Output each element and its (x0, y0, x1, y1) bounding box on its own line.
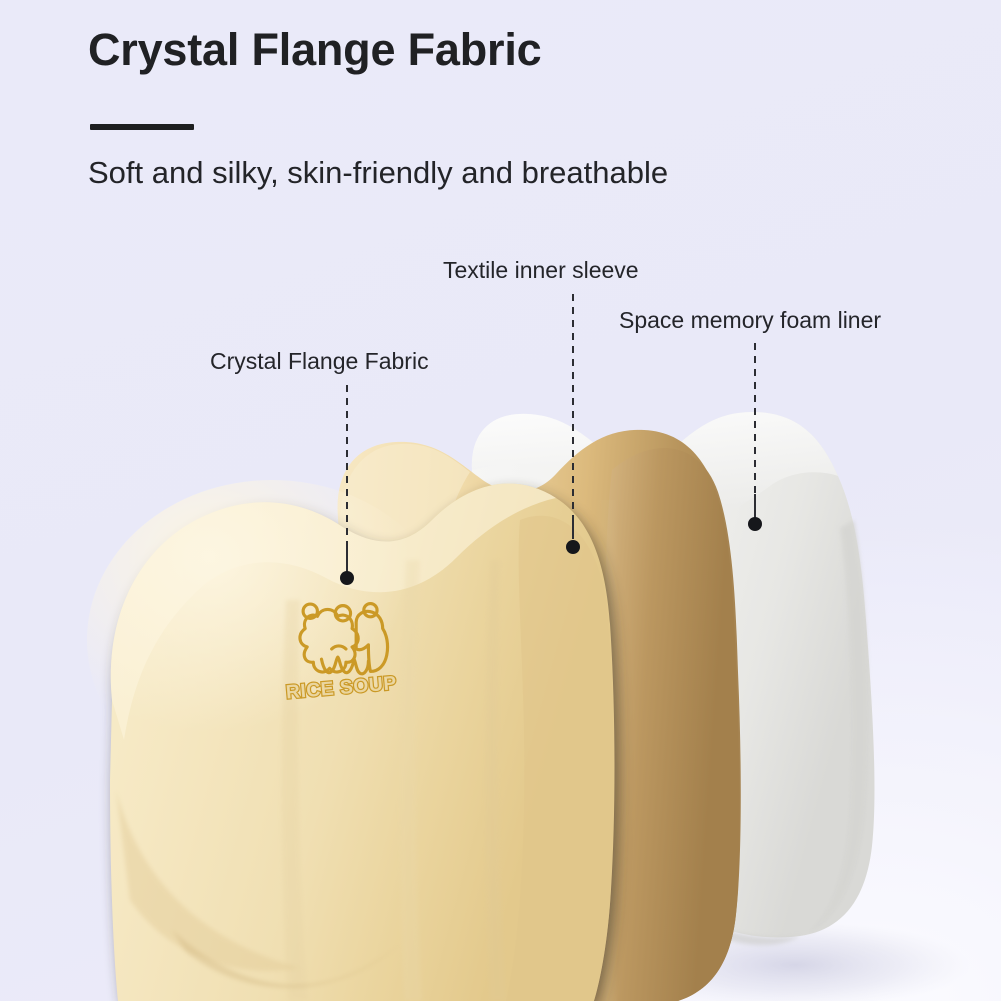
leader-solid-segment (346, 548, 348, 570)
page-title: Crystal Flange Fabric (88, 24, 541, 76)
pillow-layers-svg: RICE SOUP RICE SOUP (0, 0, 1001, 1001)
leader-dashed-segment (572, 294, 574, 548)
product-infographic: RICE SOUP RICE SOUP Crystal Flange Fabri… (0, 0, 1001, 1001)
title-underline-rule (90, 124, 194, 130)
callout-leader-crystal-flange-fabric (346, 385, 348, 579)
leader-end-dot (566, 540, 580, 554)
callout-leader-space-memory-foam-liner (754, 343, 756, 525)
callout-leader-textile-inner-sleeve (572, 294, 574, 548)
leader-end-dot (340, 571, 354, 585)
callout-label-textile-inner-sleeve: Textile inner sleeve (443, 257, 639, 284)
callout-label-space-memory-foam-liner: Space memory foam liner (619, 307, 881, 334)
page-subtitle: Soft and silky, skin-friendly and breath… (88, 155, 668, 191)
pillow-stack-illustration: RICE SOUP RICE SOUP (0, 0, 1001, 1001)
leader-solid-segment (572, 517, 574, 539)
leader-solid-segment (754, 494, 756, 516)
layer-crystal-flange-fabric (87, 480, 619, 1001)
leader-end-dot (748, 517, 762, 531)
callout-label-crystal-flange-fabric: Crystal Flange Fabric (210, 348, 429, 375)
